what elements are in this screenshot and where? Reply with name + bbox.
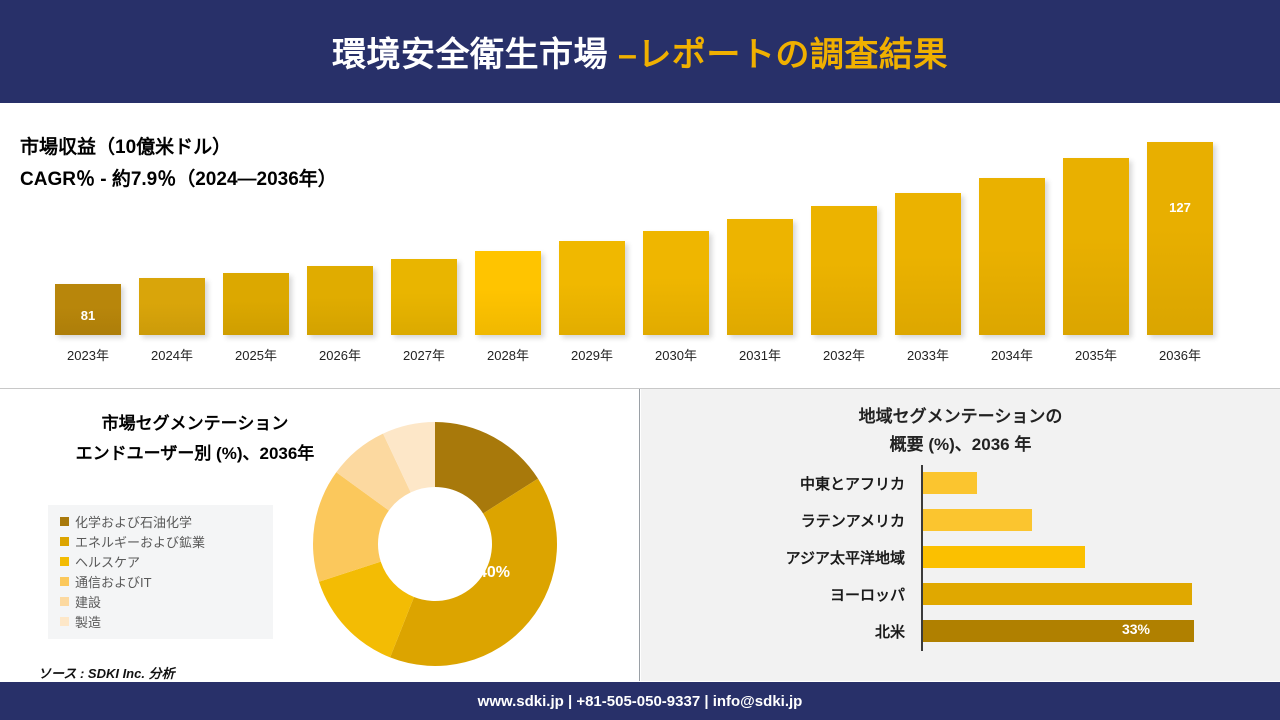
- footer-contact-text: www.sdki.jp | +81-505-050-9337 | info@sd…: [478, 693, 803, 710]
- region-row: ラテンアメリカ: [641, 502, 1280, 538]
- region-label: ラテンアメリカ: [641, 510, 913, 531]
- legend-item: 建設: [60, 591, 265, 611]
- revenue-bar: 127: [1147, 142, 1213, 335]
- revenue-axis-label: 2023年: [46, 345, 130, 364]
- segmentation-legend: 化学および石油化学エネルギーおよび鉱業ヘルスケア通信およびIT建設製造: [48, 505, 273, 639]
- revenue-bar-slot: [214, 135, 298, 335]
- revenue-bar-chart: 81127: [46, 135, 1226, 335]
- revenue-bar: [643, 231, 709, 335]
- revenue-bar: [559, 241, 625, 335]
- legend-swatch-icon: [60, 577, 69, 586]
- revenue-axis-label: 2028年: [466, 345, 550, 364]
- region-label: アジア太平洋地域: [641, 547, 913, 568]
- donut-svg: [310, 422, 560, 667]
- donut-slice: [390, 479, 557, 666]
- page-title-secondary: –レポートの調査結果: [618, 36, 948, 74]
- legend-item-label: エネルギーおよび鉱業: [75, 532, 205, 551]
- revenue-axis-label: 2029年: [550, 345, 634, 364]
- revenue-bar: 81: [55, 284, 121, 335]
- revenue-bar: [307, 266, 373, 335]
- revenue-bar-slot: [970, 135, 1054, 335]
- legend-item: 通信およびIT: [60, 571, 265, 591]
- donut-data-label: 40%: [478, 564, 510, 582]
- legend-swatch-icon: [60, 517, 69, 526]
- page-title: 環境安全衛生市場 –レポートの調査結果: [332, 27, 948, 76]
- region-row: ヨーロッパ: [641, 576, 1280, 612]
- revenue-axis-label: 2030年: [634, 345, 718, 364]
- revenue-bars: 81127: [46, 135, 1226, 335]
- region-bar: [923, 472, 977, 494]
- legend-swatch-icon: [60, 557, 69, 566]
- revenue-bar: [223, 273, 289, 335]
- region-bar: 33%: [923, 620, 1194, 642]
- revenue-axis-label: 2024年: [130, 345, 214, 364]
- revenue-axis-label: 2031年: [718, 345, 802, 364]
- revenue-axis-label: 2025年: [214, 345, 298, 364]
- region-row: 中東とアフリカ: [641, 465, 1280, 501]
- revenue-bar: [811, 206, 877, 335]
- page-title-primary: 環境安全衛生市場: [332, 36, 608, 74]
- revenue-x-axis-labels: 2023年2024年2025年2026年2027年2028年2029年2030年…: [46, 345, 1226, 364]
- legend-item: ヘルスケア: [60, 551, 265, 571]
- revenue-axis-label: 2026年: [298, 345, 382, 364]
- region-label: 中東とアフリカ: [641, 473, 913, 494]
- revenue-bar: [895, 193, 961, 335]
- region-title: 地域セグメンテーションの 概要 (%)、2036 年: [641, 403, 1280, 459]
- region-bar: [923, 509, 1032, 531]
- region-title-line1: 地域セグメンテーションの: [641, 403, 1280, 431]
- revenue-axis-label: 2027年: [382, 345, 466, 364]
- revenue-axis-label: 2034年: [970, 345, 1054, 364]
- revenue-bar: [139, 278, 205, 335]
- region-bar: [923, 583, 1192, 605]
- revenue-bar-slot: [130, 135, 214, 335]
- legend-swatch-icon: [60, 537, 69, 546]
- segmentation-donut-chart: 40%: [310, 422, 560, 667]
- revenue-axis-label: 2036年: [1138, 345, 1222, 364]
- revenue-bar: [391, 259, 457, 335]
- revenue-axis-label: 2032年: [802, 345, 886, 364]
- legend-item-label: 通信およびIT: [75, 572, 152, 591]
- revenue-bar-value: 81: [55, 308, 121, 323]
- legend-item-label: 化学および石油化学: [75, 512, 192, 531]
- segmentation-panel: 市場セグメンテーション エンドユーザー別 (%)、2036年 化学および石油化学…: [0, 389, 640, 681]
- revenue-bar-slot: [466, 135, 550, 335]
- page-footer: www.sdki.jp | +81-505-050-9337 | info@sd…: [0, 682, 1280, 720]
- revenue-bar-slot: [886, 135, 970, 335]
- revenue-axis-label: 2033年: [886, 345, 970, 364]
- revenue-bar-value: 127: [1147, 200, 1213, 215]
- source-note: ソース : SDKI Inc. 分析: [38, 663, 175, 682]
- legend-swatch-icon: [60, 597, 69, 606]
- legend-item: 製造: [60, 611, 265, 631]
- revenue-bar: [727, 219, 793, 335]
- page-header: 環境安全衛生市場 –レポートの調査結果: [0, 0, 1280, 103]
- region-bar-value: 33%: [1122, 621, 1150, 637]
- revenue-bar: [475, 251, 541, 335]
- region-title-line2: 概要 (%)、2036 年: [641, 431, 1280, 459]
- revenue-bar-slot: [1054, 135, 1138, 335]
- revenue-bar-slot: [718, 135, 802, 335]
- legend-swatch-icon: [60, 617, 69, 626]
- legend-item: エネルギーおよび鉱業: [60, 531, 265, 551]
- infographic-page: 環境安全衛生市場 –レポートの調査結果 市場収益（10億米ドル） CAGR％ -…: [0, 0, 1280, 720]
- revenue-bar-slot: [550, 135, 634, 335]
- revenue-bar-slot: [382, 135, 466, 335]
- legend-item-label: 製造: [75, 612, 101, 631]
- revenue-bar-slot: 81: [46, 135, 130, 335]
- revenue-bar-slot: 127: [1138, 135, 1222, 335]
- region-panel: 地域セグメンテーションの 概要 (%)、2036 年 中東とアフリカラテンアメリ…: [641, 389, 1280, 681]
- region-bar-chart: 中東とアフリカラテンアメリカアジア太平洋地域ヨーロッパ北米33%: [641, 461, 1280, 661]
- legend-item-label: ヘルスケア: [75, 552, 140, 571]
- legend-item-label: 建設: [75, 592, 101, 611]
- legend-item: 化学および石油化学: [60, 511, 265, 531]
- revenue-bar-slot: [634, 135, 718, 335]
- revenue-bar: [1063, 158, 1129, 335]
- region-bar: [923, 546, 1085, 568]
- region-row: 北米33%: [641, 613, 1280, 649]
- region-label: 北米: [641, 621, 913, 642]
- revenue-axis-label: 2035年: [1054, 345, 1138, 364]
- revenue-bar-slot: [298, 135, 382, 335]
- region-label: ヨーロッパ: [641, 584, 913, 605]
- region-row: アジア太平洋地域: [641, 539, 1280, 575]
- revenue-bar: [979, 178, 1045, 335]
- revenue-bar-slot: [802, 135, 886, 335]
